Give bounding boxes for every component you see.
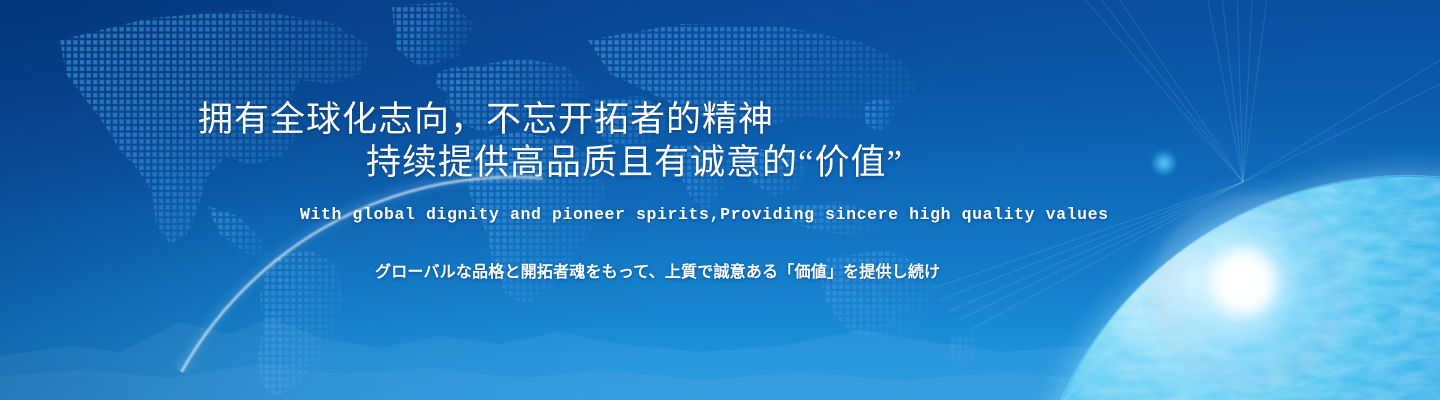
subtitle-japanese: グローバルな品格と開拓者魂をもって、上質で誠意ある「価値」を提供し続け	[375, 258, 940, 282]
subtitle-english: With global dignity and pioneer spirits,…	[300, 205, 1109, 224]
headline-chinese-line-2: 持续提供高品质且有诚意的“价值”	[366, 134, 903, 185]
philosophy-banner: 拥有全球化志向，不忘开拓者的精神 持续提供高品质且有诚意的“价值” With g…	[0, 0, 1440, 400]
headline-block: 拥有全球化志向，不忘开拓者的精神 持续提供高品质且有诚意的“价值” With g…	[0, 0, 1440, 400]
